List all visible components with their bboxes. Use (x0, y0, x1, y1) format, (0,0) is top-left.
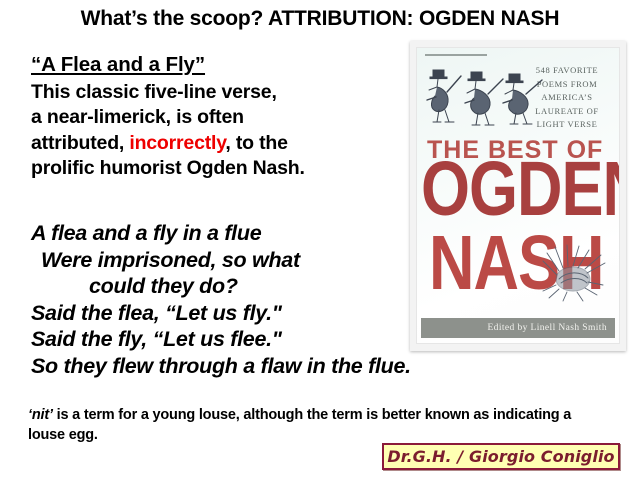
poem-title-heading: “A Flea and a Fly” (31, 52, 205, 78)
poem-block: A flea and a fly in a flue Were imprison… (31, 220, 431, 379)
footnote-body: is a term for a young louse, although th… (28, 407, 571, 443)
dancing-birds-icon (421, 60, 551, 130)
attribution-label: Dr.G.H. / Giorgio Coniglio (387, 447, 614, 466)
poem-line: Said the fly, “Let us flee." (31, 326, 431, 353)
poem-line: Were imprisoned, so what (31, 247, 431, 274)
poem-line: Said the flea, “Let us fly." (31, 300, 431, 327)
book-cover-image: 548 favorite poems from America’s Laurea… (410, 41, 626, 351)
intro-line-1: This classic five-line verse, (31, 80, 401, 106)
cover-rule (425, 54, 487, 56)
book-title-ogden: OGDEN (421, 154, 620, 225)
intro-paragraph: This classic five-line verse, a near-lim… (31, 80, 401, 182)
slide-canvas: What’s the scoop? ATTRIBUTION: OGDEN NAS… (0, 0, 640, 480)
attribution-badge: Dr.G.H. / Giorgio Coniglio (382, 443, 620, 470)
intro-line-3-suffix: , to the (225, 132, 287, 154)
book-editor-band: Edited by Linell Nash Smith (421, 318, 615, 338)
book-editor-credit: Edited by Linell Nash Smith (487, 323, 615, 333)
poem-line: could they do? (31, 273, 431, 300)
footnote-term: ‘nit’ (28, 407, 53, 423)
page-title: What’s the scoop? ATTRIBUTION: OGDEN NAS… (0, 6, 640, 31)
poem-line: A flea and a fly in a flue (31, 220, 431, 247)
poem-line: So they flew through a flaw in the flue. (31, 353, 431, 380)
intro-line-4: prolific humorist Ogden Nash. (31, 156, 401, 182)
intro-line-2: a near-limerick, is often (31, 105, 401, 131)
intro-line-3: attributed, incorrectly, to the (31, 131, 401, 157)
insect-illustration-icon (539, 241, 611, 303)
intro-line-3-prefix: attributed, (31, 132, 129, 154)
intro-text-block: “A Flea and a Fly” This classic five-lin… (31, 52, 401, 182)
footnote-text: ‘nit’ is a term for a young louse, altho… (28, 405, 588, 445)
book-cover-face: 548 favorite poems from America’s Laurea… (416, 47, 620, 344)
incorrectly-highlight: incorrectly (129, 132, 225, 154)
